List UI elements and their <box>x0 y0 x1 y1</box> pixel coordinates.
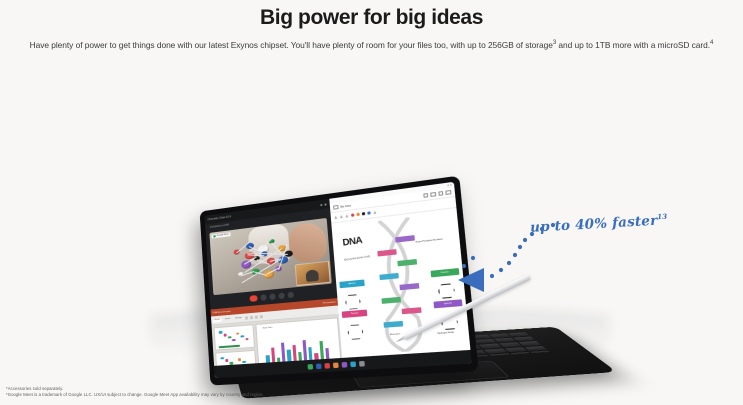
slide-shape <box>245 338 249 341</box>
subcopy-part-2: and up to 1TB more with a microSD card. <box>556 40 710 50</box>
note-heading: DNA <box>342 235 363 248</box>
slide-shape <box>225 359 229 362</box>
wifi-icon: ▮ <box>447 184 449 186</box>
molecule-hexagon-icon <box>345 294 362 310</box>
footnote-2: *Google Meet is a trademark of Google LL… <box>6 392 264 399</box>
tag-cytosine: Cytosine <box>434 299 462 308</box>
keyboard-key[interactable] <box>530 351 550 354</box>
slide-shape <box>240 335 244 338</box>
molecule-hexagon-icon <box>437 283 455 300</box>
dotted-leader-icon <box>462 223 555 278</box>
note-annotation-hbonds: Hydrogen Bonds <box>429 331 464 336</box>
back-icon[interactable] <box>333 205 338 210</box>
ribbon-tab-design[interactable]: Design <box>234 316 244 320</box>
shape-icon[interactable] <box>260 315 263 318</box>
pane-video-call[interactable]: Chemistry Class 10:4 Introduction to DNA <box>205 199 344 378</box>
ribbon-tab-insert[interactable]: Insert <box>223 317 231 321</box>
meet-badge-label: Google Meet <box>217 233 229 236</box>
window-dot-icon <box>324 203 326 205</box>
annotation-graphics <box>452 214 702 304</box>
window-dot-icon <box>320 203 322 205</box>
presentation-mode-label: Presentation <box>323 301 336 304</box>
slide-shape <box>221 357 225 360</box>
annotation-label: up to 40% faster <box>530 213 658 236</box>
slide-shape <box>219 331 223 334</box>
page-subcopy: Have plenty of power to get things done … <box>4 38 740 52</box>
share-icon[interactable] <box>438 191 444 197</box>
molecule-hexagon-icon <box>347 324 364 340</box>
product-scene: Chemistry Class 10:4 Introduction to DNA <box>0 92 743 382</box>
notes-header-left: Bio notes <box>333 203 351 210</box>
eraser-tool-icon[interactable] <box>345 214 348 218</box>
slide-shape <box>228 336 232 339</box>
tag-adenine: Adenine <box>340 280 365 288</box>
page-headline: Big power for big ideas <box>0 6 743 30</box>
meet-subtitle: Introduction to DNA <box>210 224 229 228</box>
slide-title: Base Pairs <box>263 327 273 330</box>
tag-thymine: Thymine <box>342 310 367 318</box>
keyboard-key[interactable] <box>490 353 510 356</box>
taskbar-icon-browser[interactable] <box>324 362 330 368</box>
redo-icon[interactable] <box>430 192 436 198</box>
subcopy-footnote-marker-4: 4 <box>710 40 713 46</box>
taskbar-icon-store[interactable] <box>350 361 356 367</box>
slide-accent-bar <box>219 345 240 349</box>
mic-button[interactable] <box>260 294 266 301</box>
captions-button[interactable] <box>278 292 285 299</box>
more-options-icon[interactable] <box>446 190 452 196</box>
highlighter-tool-icon[interactable] <box>340 215 343 219</box>
image-icon[interactable] <box>255 315 258 318</box>
tablet-screen[interactable]: Chemistry Class 10:4 Introduction to DNA <box>205 182 472 378</box>
note-title: Bio notes <box>340 204 351 209</box>
tablet-device[interactable]: Chemistry Class 10:4 Introduction to DNA <box>200 176 479 386</box>
more-options-button[interactable] <box>288 292 295 299</box>
subcopy-part-1: Have plenty of power to get things done … <box>30 40 553 50</box>
italic-icon[interactable] <box>250 315 253 318</box>
meet-logo-icon <box>213 235 216 238</box>
speed-annotation: up to 40% faster13 <box>452 214 702 304</box>
taskbar-icon-notes[interactable] <box>341 361 347 367</box>
color-swatch-red[interactable] <box>351 213 354 217</box>
slide-shape <box>223 334 227 337</box>
marketing-page: Big power for big ideas Have plenty of p… <box>0 0 743 405</box>
color-swatch-orange[interactable] <box>356 213 360 217</box>
pen-tool-icon[interactable] <box>334 216 337 220</box>
shapes-icon[interactable] <box>373 210 377 214</box>
slide-thumbnail[interactable] <box>213 324 255 351</box>
color-swatch-black[interactable] <box>362 212 366 216</box>
ribbon-tab-home[interactable]: Home <box>213 318 222 322</box>
note-subheading: (Deoxyribonucleic Acid) <box>344 255 370 261</box>
keyboard-key[interactable] <box>510 352 530 355</box>
taskbar-icon-messages[interactable] <box>315 363 321 369</box>
meet-title: Chemistry Class 10:4 <box>208 215 232 221</box>
annotation-text: up to 40% faster13 <box>530 212 668 236</box>
note-canvas[interactable]: DNA (Deoxyribonucleic Acid) Adenine Thym… <box>331 208 470 359</box>
self-view-thumbnail[interactable] <box>295 260 331 285</box>
taskbar-icon-gallery[interactable] <box>332 362 338 368</box>
color-swatch-blue[interactable] <box>367 211 371 215</box>
undo-icon[interactable] <box>423 193 429 199</box>
tag-guanine: Guanine <box>431 268 459 277</box>
end-call-button[interactable] <box>249 295 257 302</box>
slide-shape <box>238 358 242 361</box>
slide-shape <box>236 332 240 335</box>
video-stage: Google Meet <box>209 218 332 295</box>
presentation-filename: DNA Structure.pptx <box>213 310 231 314</box>
bold-icon[interactable] <box>245 316 248 319</box>
slide-shape <box>232 339 236 342</box>
footnotes: *Accessories sold separately. *Google Me… <box>6 386 264 399</box>
taskbar-icon-phone[interactable] <box>307 364 313 370</box>
pane-notes-app[interactable]: ▮ ▰ Bio notes <box>329 182 471 371</box>
molecule-model <box>226 233 302 286</box>
camera-button[interactable] <box>269 293 275 300</box>
annotation-superscript: 13 <box>657 212 668 222</box>
taskbar-icon-settings[interactable] <box>358 360 364 366</box>
battery-icon: ▰ <box>450 184 452 186</box>
notes-header-right <box>423 190 452 199</box>
footnote-1: *Accessories sold separately. <box>6 386 264 393</box>
meet-app-badge: Google Meet <box>211 232 230 238</box>
